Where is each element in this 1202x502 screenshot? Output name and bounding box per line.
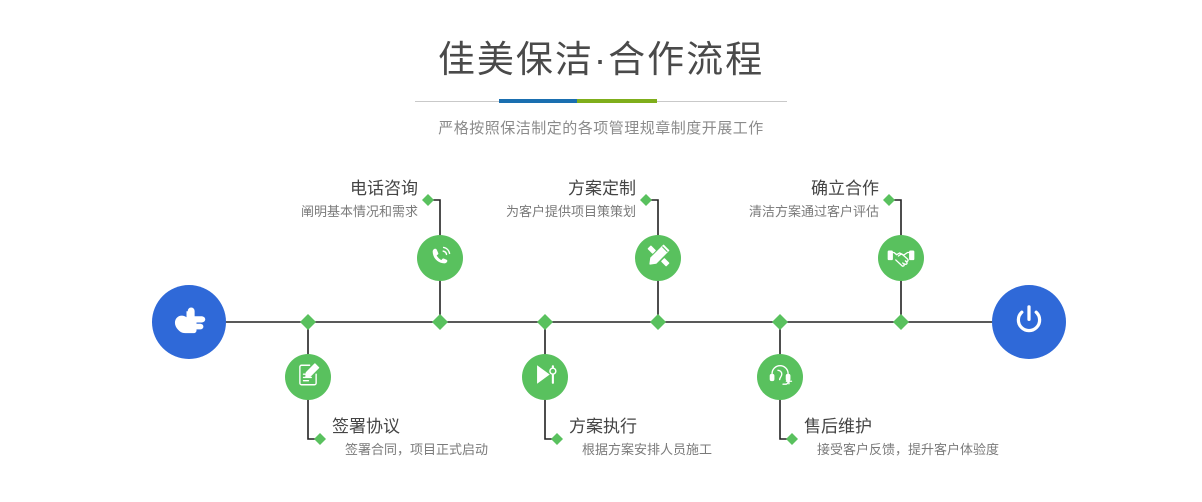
phone-call-icon [427,243,453,274]
label-diamonds [314,194,895,445]
diamond-marker [432,314,448,330]
page-subtitle: 严格按照保洁制定的各项管理规章制度开展工作 [0,117,1202,138]
label-diamond [314,433,326,445]
label-diamond [883,194,895,206]
step-label-5-title: 确立合作 [603,178,879,200]
step-label-6-title: 售后维护 [804,416,999,438]
diamond-marker [893,314,909,330]
step-node-5[interactable] [878,235,924,281]
step-label-6-desc: 接受客户反馈，提升客户体验度 [804,440,999,460]
flowchart-page: 佳美保洁·合作流程 严格按照保洁制定的各项管理规章制度开展工作 [0,0,1202,502]
step-node-1[interactable] [417,235,463,281]
diamond-marker [772,314,788,330]
step-label-3: 方案定制 为客户提供项目策策划 [360,178,636,222]
start-node[interactable] [152,285,226,359]
step-label-2: 签署协议 签署合同，项目正式启动 [332,416,488,460]
diamond-marker [537,314,553,330]
process-timeline: 电话咨询 阐明基本情况和需求 方案定制 为客户提供项目策策划 确立合作 清洁方案… [0,150,1202,502]
step-label-3-desc: 为客户提供项目策策划 [360,202,636,222]
label-diamond [551,433,563,445]
title-divider [415,96,787,108]
pencil-ruler-icon [645,242,672,274]
pointing-hand-icon [169,300,209,345]
page-header: 佳美保洁·合作流程 严格按照保洁制定的各项管理规章制度开展工作 [0,0,1202,138]
step-node-3[interactable] [635,235,681,281]
end-node[interactable] [992,285,1066,359]
step-label-4: 方案执行 根据方案安排人员施工 [569,416,712,460]
step-label-4-title: 方案执行 [569,416,712,438]
step-label-3-title: 方案定制 [360,178,636,200]
document-edit-icon [295,362,321,393]
diamond-marker [650,314,666,330]
step-node-6[interactable] [757,354,803,400]
step-node-4[interactable] [522,354,568,400]
step-label-4-desc: 根据方案安排人员施工 [569,440,712,460]
play-execute-icon [532,361,559,393]
step-label-6: 售后维护 接受客户反馈，提升客户体验度 [804,416,999,460]
divider-segment-green [577,99,657,103]
customer-service-icon [767,361,794,393]
step-label-2-desc: 签署合同，项目正式启动 [332,440,488,460]
step-label-5-desc: 清洁方案通过客户评估 [603,202,879,222]
page-title: 佳美保洁·合作流程 [0,38,1202,82]
diamond-marker [300,314,316,330]
handshake-icon [887,242,915,275]
label-diamond [786,433,798,445]
step-label-5: 确立合作 清洁方案通过客户评估 [603,178,879,222]
step-node-2[interactable] [285,354,331,400]
step-label-2-title: 签署协议 [332,416,488,438]
divider-segment-blue [499,99,577,103]
power-icon [1009,300,1049,345]
